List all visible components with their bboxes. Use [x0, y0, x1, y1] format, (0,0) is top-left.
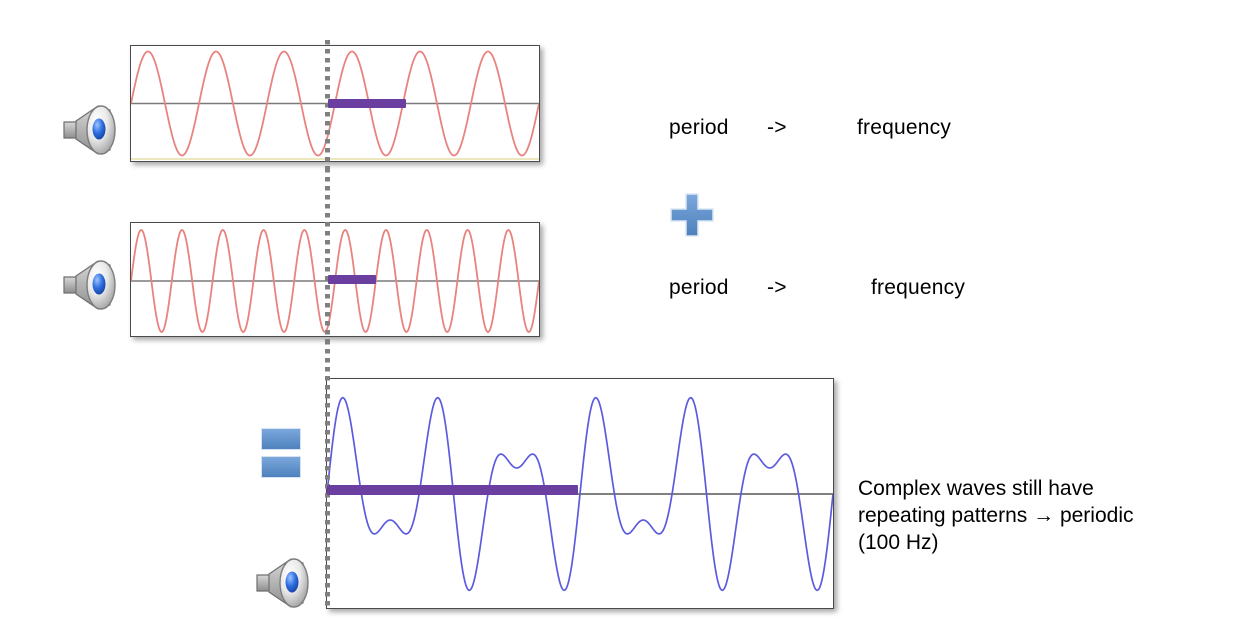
equals-icon: [261, 428, 301, 478]
period-label-2: period: [669, 276, 729, 300]
period-marker-bar-1: [328, 99, 406, 108]
sync-line-segment-bottom: [325, 340, 330, 608]
equals-bar-top: [261, 428, 301, 450]
period-label-1: period: [669, 116, 729, 140]
arrow-label-2: ->: [767, 276, 787, 300]
equals-bar-bottom: [261, 456, 301, 478]
speaker-icon-2[interactable]: [58, 253, 122, 315]
frequency-label-2: frequency: [871, 276, 965, 300]
period-marker-bar-3: [327, 485, 578, 495]
speaker-icon-3[interactable]: [251, 551, 315, 613]
slide-canvas: period -> frequency period -> frequency …: [0, 0, 1238, 644]
complex-wave-caption: Complex waves still have repeating patte…: [858, 475, 1208, 556]
plus-icon: [669, 192, 715, 243]
sync-line-segment-middle: [325, 168, 330, 222]
arrow-label-1: ->: [767, 116, 787, 140]
speaker-icon-1[interactable]: [58, 98, 122, 160]
frequency-label-1: frequency: [857, 116, 951, 140]
period-marker-bar-2: [328, 275, 376, 284]
